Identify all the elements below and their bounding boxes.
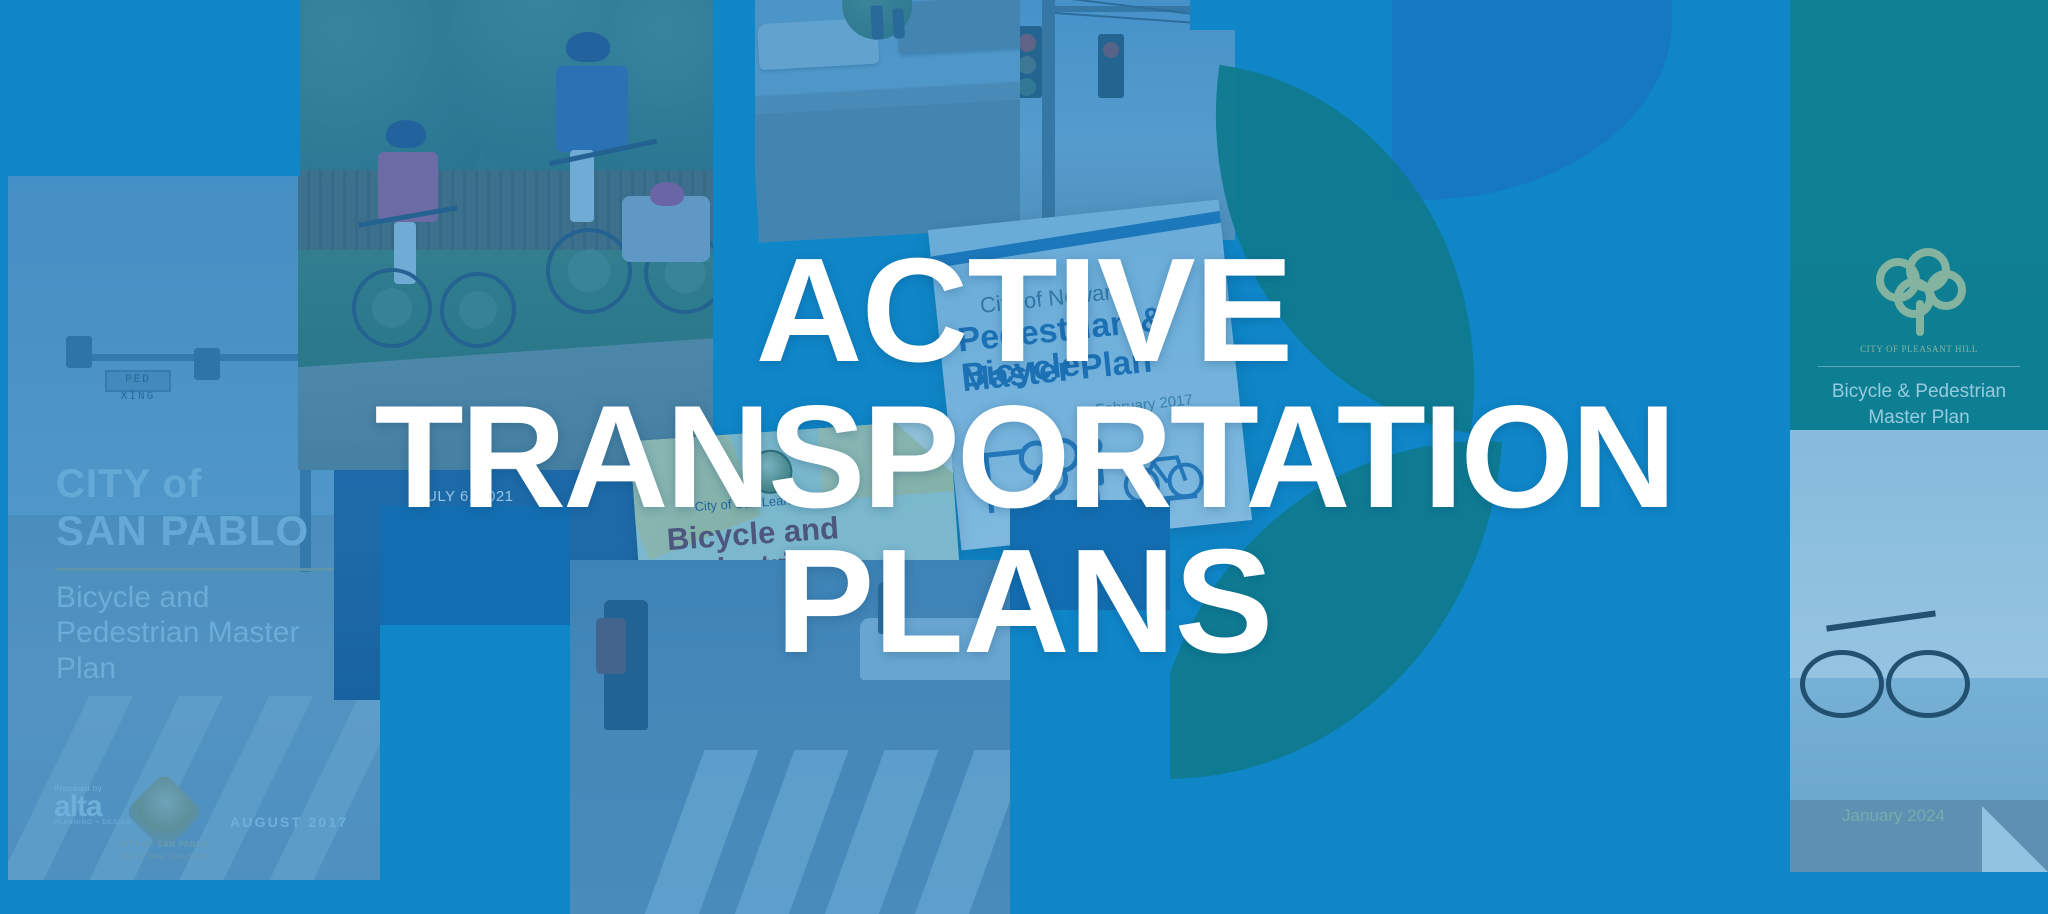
brand-plate-deep: [1010, 500, 1170, 610]
cover-pleasant-hill: CITY OF PLEASANT HILL Bicycle & Pedestri…: [1790, 0, 2048, 872]
pleasant-hill-date: January 2024: [1842, 806, 1945, 826]
cover-newark: City of Newark Pedestrian & Bicycle Mast…: [928, 200, 1252, 551]
photo-crosswalk: [560, 560, 1030, 914]
photo-tint: [560, 560, 1030, 914]
brand-plate: [0, 880, 380, 914]
bicycle-wheel: [1800, 650, 1884, 718]
pleasant-hill-title-line2: Master Plan: [1790, 406, 2048, 431]
divider: [1818, 366, 2020, 367]
brand-plate: [713, 0, 755, 236]
page-curl: [1982, 806, 2048, 872]
photo-tint: [298, 0, 713, 470]
brand-plate: [1190, 0, 1250, 30]
brand-plate: [0, 0, 300, 176]
brand-plate-deep: [380, 505, 570, 625]
pleasant-hill-tree-icon: [1870, 246, 1970, 338]
station-canopy: [1790, 430, 2048, 678]
danville-date: JULY 6, 2021: [418, 488, 514, 505]
photo-cyclists: [298, 0, 713, 470]
pleasant-hill-logo-text: CITY OF PLEASANT HILL: [1790, 344, 2048, 354]
pleasant-hill-title-line1: Bicycle & Pedestrian: [1790, 380, 2048, 405]
photo-tint: [928, 200, 1252, 551]
banner-hero: PED XING CITY of SAN PABLO Bicycle and P…: [0, 0, 2048, 914]
bicycle-wheel: [1886, 650, 1970, 718]
